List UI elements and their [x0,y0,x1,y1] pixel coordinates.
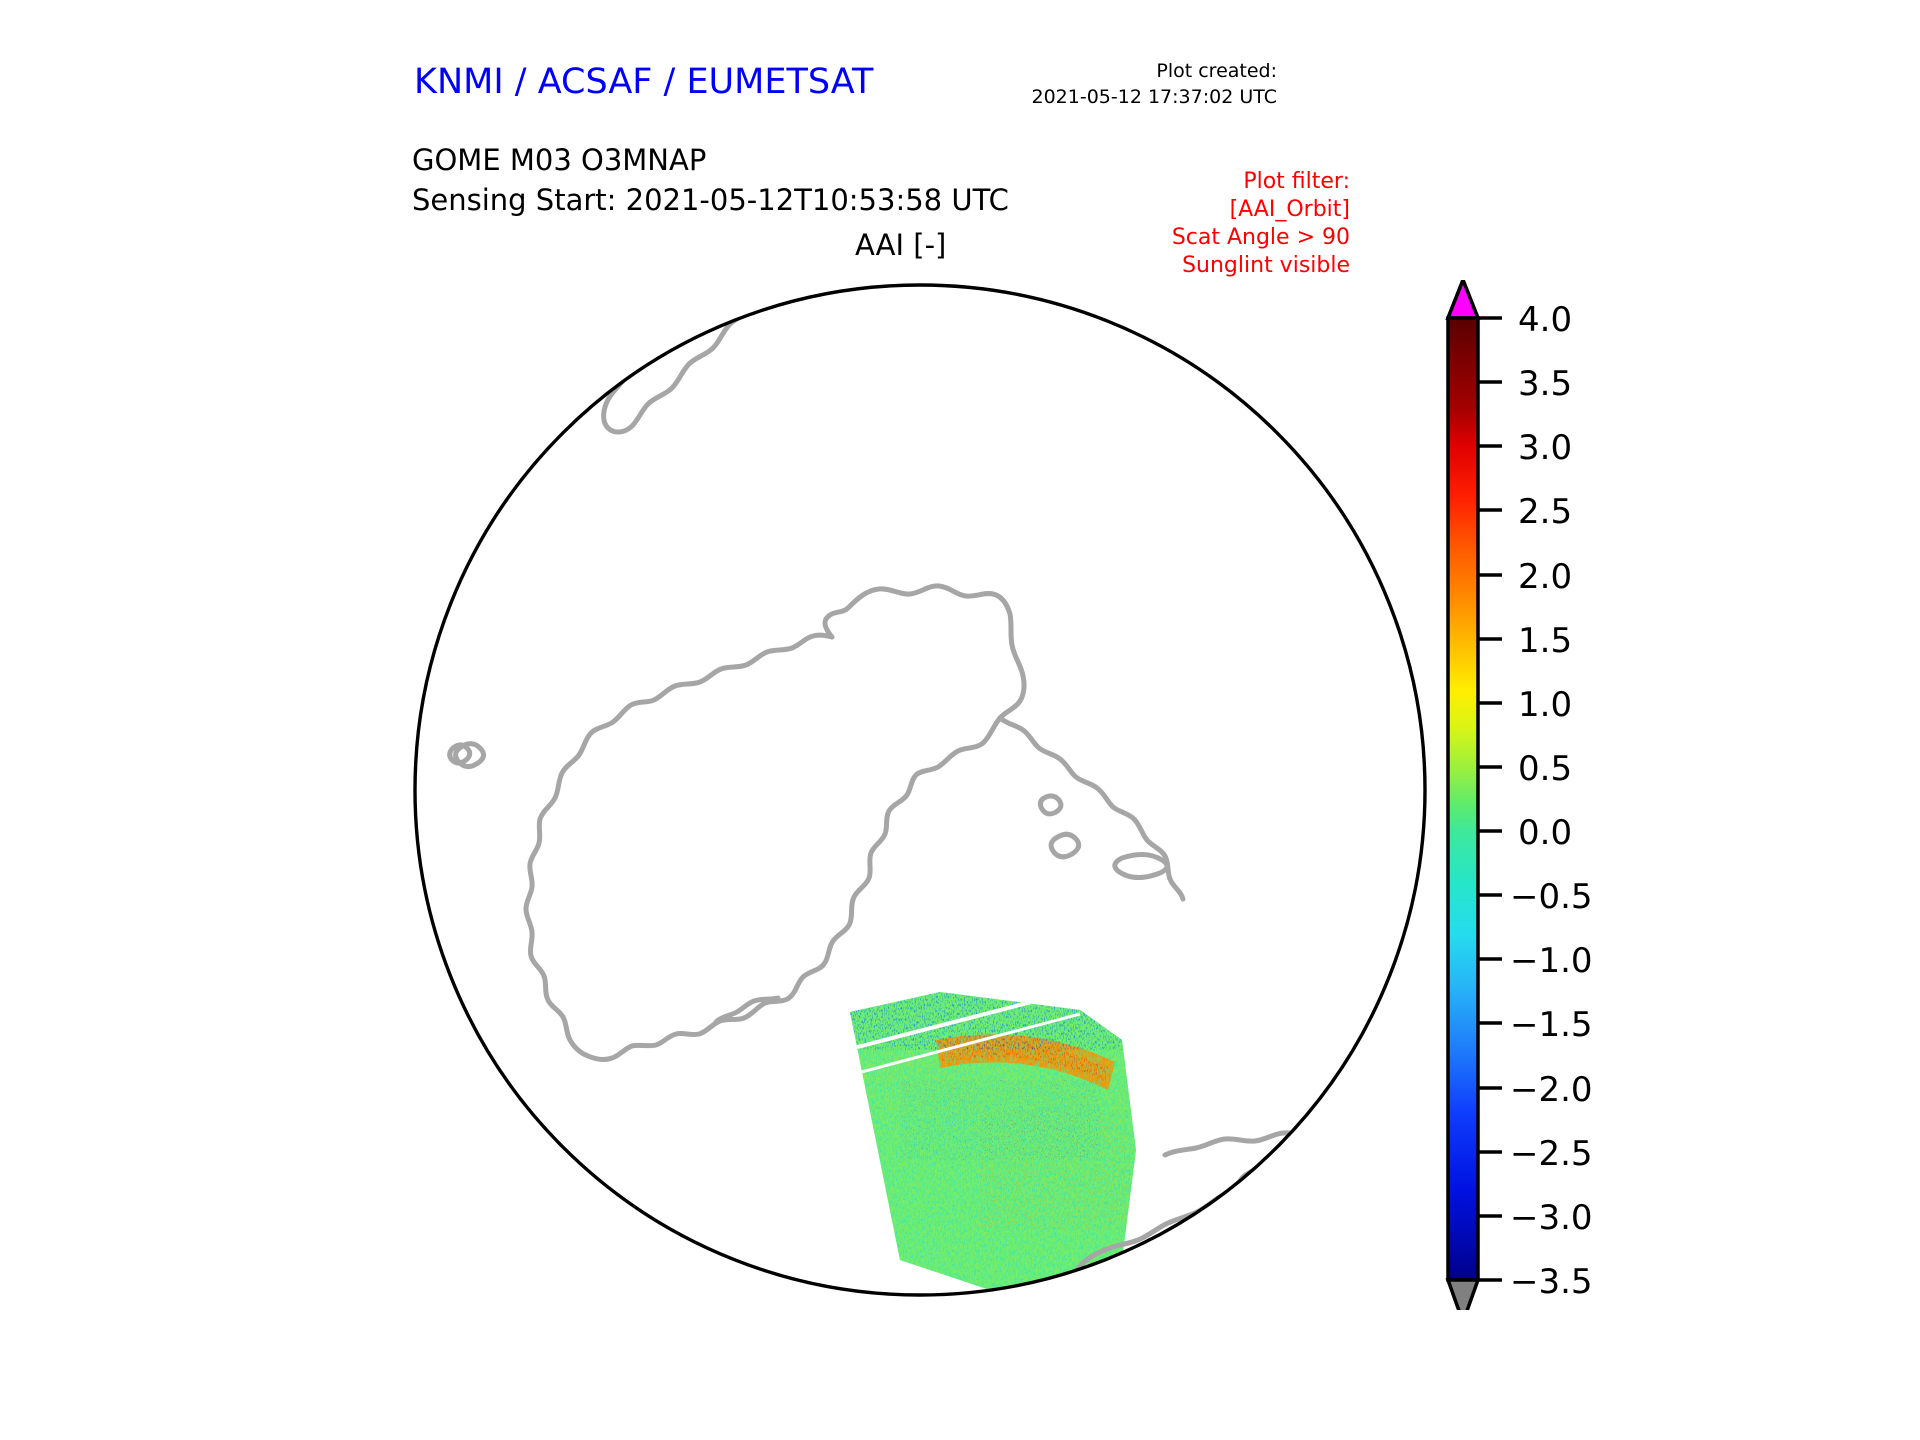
product-name: GOME M03 O3MNAP [412,140,1009,180]
plot-created-block: Plot created: 2021-05-12 17:37:02 UTC [1032,58,1278,110]
cbar-label-3: 2.5 [1518,492,1572,532]
plot-canvas: KNMI / ACSAF / EUMETSAT Plot created: 20… [0,0,1920,1440]
cbar-label-9: −0.5 [1510,877,1593,917]
cbar-label-10: −1.0 [1510,941,1593,981]
coastline-island-f [404,340,439,364]
colorbar: 4.0 3.5 3.0 2.5 2.0 1.5 1.0 0.5 0.0 −0.5… [1430,280,1850,1310]
cbar-label-8: 0.0 [1518,813,1572,853]
polar-map [380,250,1470,1340]
data-swath [820,970,1170,1330]
cbar-label-12: −2.0 [1510,1070,1593,1110]
coastline-antarctica [526,586,1024,1060]
cbar-label-15: −3.5 [1510,1262,1593,1302]
coastline-nz-north [785,250,829,257]
plot-filter-scat-angle: Scat Angle > 90 [1172,224,1350,252]
coastline-new-zealand [604,256,792,432]
cbar-label-7: 0.5 [1518,749,1572,789]
colorbar-under-range-arrow [1448,1280,1478,1310]
cbar-label-4: 2.0 [1518,557,1572,597]
coastline-island-a [1040,796,1061,814]
plot-created-timestamp: 2021-05-12 17:37:02 UTC [1032,84,1278,110]
cbar-label-0: 4.0 [1518,300,1572,340]
coastline-island-e [534,367,587,416]
coastline-island-b [1051,834,1079,857]
organisation-title: KNMI / ACSAF / EUMETSAT [414,62,873,102]
colorbar-gradient [1448,318,1478,1280]
coastlines [404,250,1312,1325]
cbar-label-6: 1.0 [1518,685,1572,725]
plot-filter-label: Plot filter: [1172,168,1350,196]
cbar-label-13: −2.5 [1510,1134,1593,1174]
colorbar-ticks [1478,318,1502,1280]
cbar-label-11: −1.5 [1510,1005,1593,1045]
cbar-label-5: 1.5 [1518,621,1572,661]
sensing-start: Sensing Start: 2021-05-12T10:53:58 UTC [412,180,1009,220]
colorbar-tick-labels: 4.0 3.5 3.0 2.5 2.0 1.5 1.0 0.5 0.0 −0.5… [1510,300,1593,1302]
cbar-label-2: 3.0 [1518,428,1572,468]
coastline-island-c [1115,854,1167,877]
cbar-label-14: −3.0 [1510,1198,1593,1238]
plot-created-label: Plot created: [1032,58,1278,84]
plot-filter-name: [AAI_Orbit] [1172,196,1350,224]
product-info-block: GOME M03 O3MNAP Sensing Start: 2021-05-1… [412,140,1009,220]
cbar-label-1: 3.5 [1518,364,1572,404]
coastline-antarctic-peninsula [1000,718,1183,899]
